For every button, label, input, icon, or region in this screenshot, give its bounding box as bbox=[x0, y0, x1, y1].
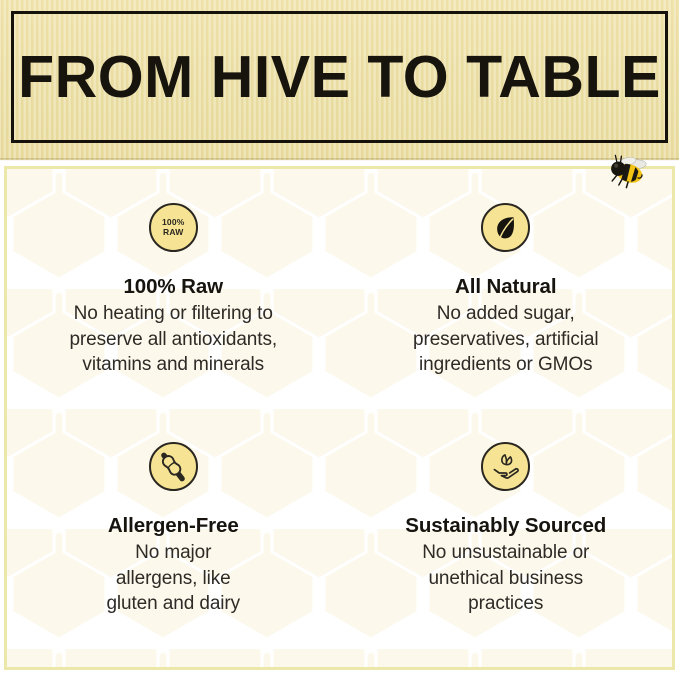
features-grid: 100% RAW 100% Raw No heating or filterin… bbox=[7, 169, 672, 667]
peanut-no-allergen-icon-glyph bbox=[152, 446, 194, 488]
leaf-icon bbox=[481, 203, 530, 252]
feature-desc-line: preservatives, artificial bbox=[413, 327, 598, 353]
feature-desc-line: vitamins and minerals bbox=[69, 352, 277, 378]
raw-badge-line2: RAW bbox=[163, 227, 183, 237]
feature-description: No heating or filtering to preserve all … bbox=[69, 301, 277, 378]
feature-desc-line: gluten and dairy bbox=[106, 591, 240, 617]
feature-desc-line: preserve all antioxidants, bbox=[69, 327, 277, 353]
feature-title: 100% Raw bbox=[124, 275, 223, 299]
feature-desc-line: practices bbox=[422, 591, 589, 617]
hand-holding-sprout-icon-glyph bbox=[490, 451, 522, 483]
leaf-icon-glyph bbox=[491, 213, 521, 243]
feature-description: No added sugar, preservatives, artificia… bbox=[413, 301, 598, 378]
feature-card-100-raw: 100% RAW 100% Raw No heating or filterin… bbox=[7, 169, 340, 418]
feature-desc-line: unethical business bbox=[422, 566, 589, 592]
features-panel: 100% RAW 100% Raw No heating or filterin… bbox=[4, 166, 675, 670]
feature-description: No unsustainable or unethical business p… bbox=[422, 540, 589, 617]
feature-title: Sustainably Sourced bbox=[405, 514, 606, 538]
peanut-no-allergen-icon bbox=[149, 442, 198, 491]
feature-desc-line: No heating or filtering to bbox=[69, 301, 277, 327]
page-title: FROM HIVE TO TABLE bbox=[0, 11, 679, 143]
feature-description: No major allergens, like gluten and dair… bbox=[106, 540, 240, 617]
raw-badge-text: 100% RAW bbox=[162, 218, 185, 237]
100-percent-raw-badge-icon: 100% RAW bbox=[149, 203, 198, 252]
feature-desc-line: No unsustainable or bbox=[422, 540, 589, 566]
feature-card-allergen-free: Allergen-Free No major allergens, like g… bbox=[7, 418, 340, 667]
feature-card-all-natural: All Natural No added sugar, preservative… bbox=[340, 169, 673, 418]
bee-icon bbox=[606, 153, 650, 193]
feature-desc-line: allergens, like bbox=[106, 566, 240, 592]
feature-title: All Natural bbox=[455, 275, 556, 299]
banner-divider bbox=[0, 158, 679, 161]
feature-card-sustainably-sourced: Sustainably Sourced No unsustainable or … bbox=[340, 418, 673, 667]
raw-badge-line1: 100% bbox=[162, 217, 185, 227]
hand-holding-sprout-icon bbox=[481, 442, 530, 491]
feature-desc-line: No added sugar, bbox=[413, 301, 598, 327]
feature-desc-line: ingredients or GMOs bbox=[413, 352, 598, 378]
feature-desc-line: No major bbox=[106, 540, 240, 566]
header-banner: FROM HIVE TO TABLE bbox=[0, 0, 679, 160]
feature-title: Allergen-Free bbox=[108, 514, 239, 538]
